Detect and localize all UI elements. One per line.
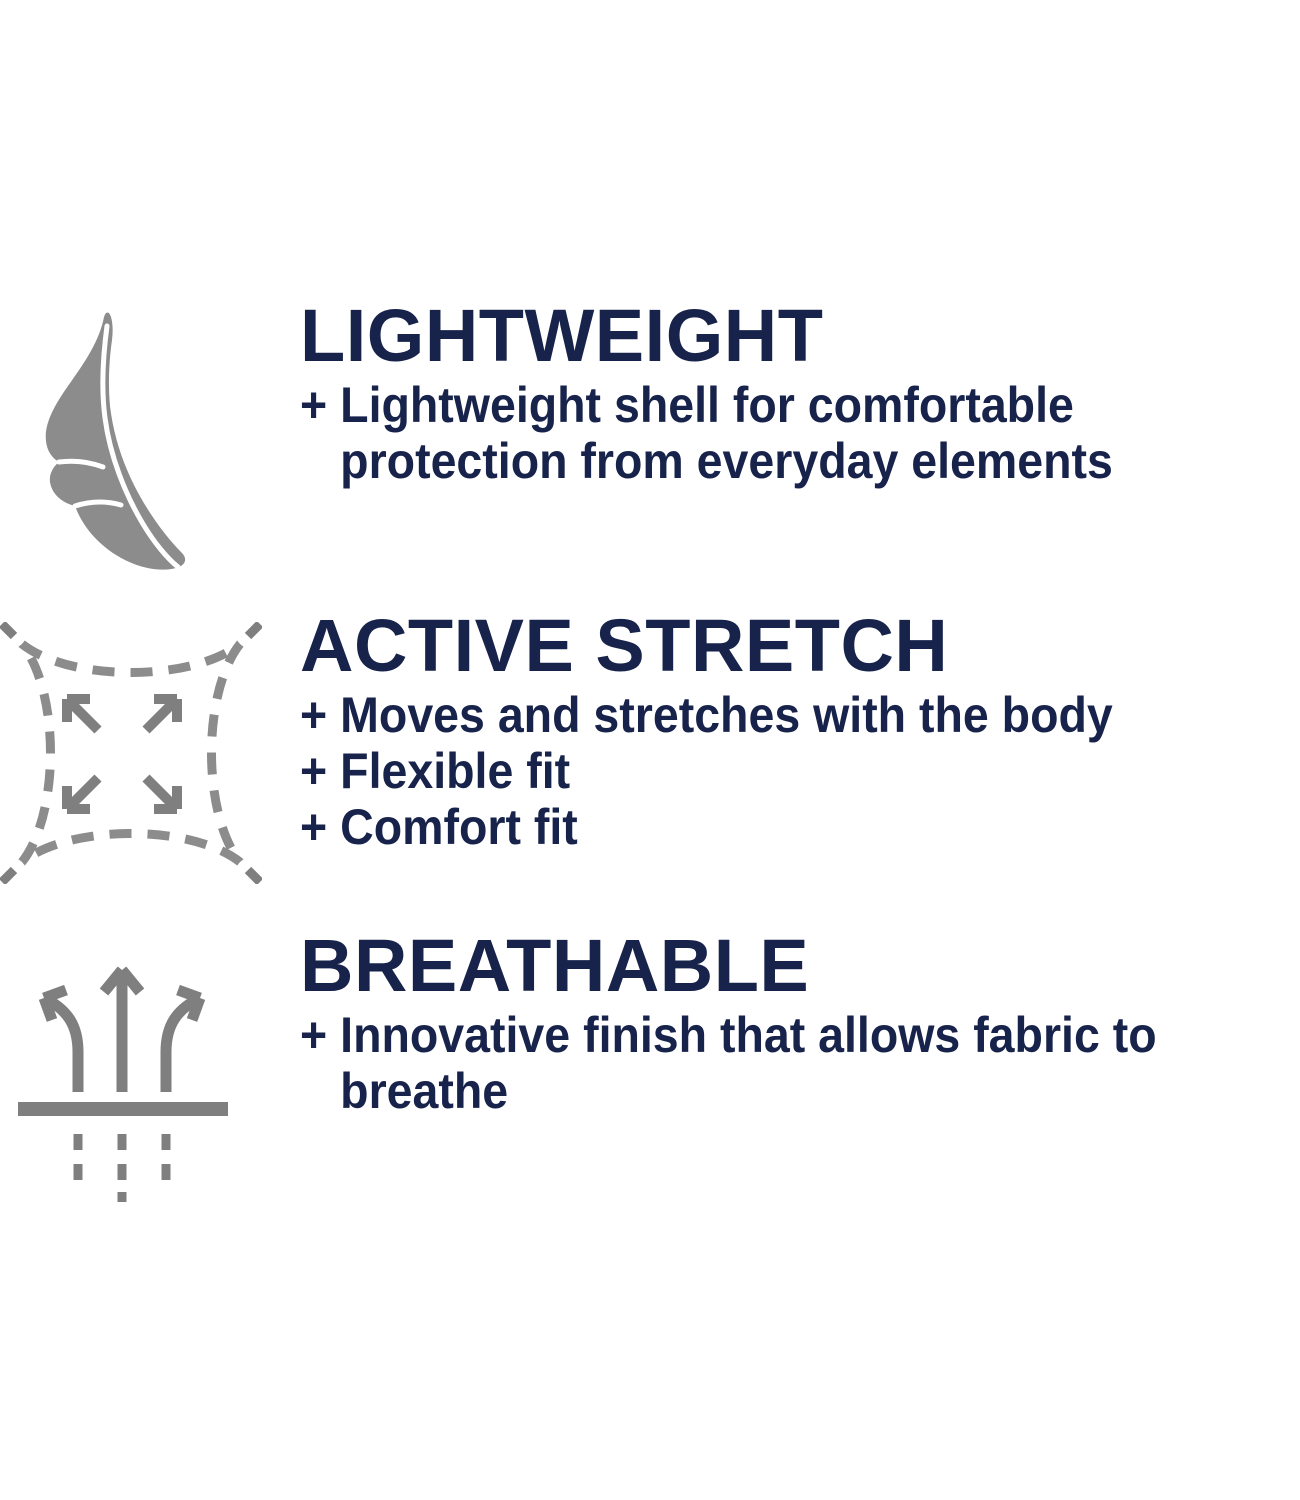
feature-text-cell: LIGHTWEIGHT + Lightweight shell for comf… <box>300 300 1300 489</box>
bullet-item: + Comfort fit <box>300 799 1230 855</box>
bullet-text: Comfort fit <box>340 799 1230 855</box>
feature-title: ACTIVE STRETCH <box>300 610 1300 683</box>
bullet-item: + Lightweight shell for comfortable prot… <box>300 377 1230 489</box>
feature-title: LIGHTWEIGHT <box>300 300 1300 373</box>
feature-row: ACTIVE STRETCH + Moves and stretches wit… <box>0 610 1300 910</box>
feature-title: BREATHABLE <box>300 930 1300 1003</box>
bullet-text: Innovative finish that allows fabric to … <box>340 1007 1230 1119</box>
feature-row: BREATHABLE + Innovative finish that allo… <box>0 930 1300 1210</box>
feature-row: LIGHTWEIGHT + Lightweight shell for comf… <box>0 300 1300 600</box>
bullet-text: Flexible fit <box>340 743 1230 799</box>
feature-text-cell: ACTIVE STRETCH + Moves and stretches wit… <box>300 610 1300 855</box>
feature-icon-cell <box>0 300 300 600</box>
stretch-arrows-icon <box>0 622 262 884</box>
feature-bullets: + Moves and stretches with the body + Fl… <box>300 687 1300 855</box>
bullet-marker: + <box>300 377 327 433</box>
breathability-arrows-icon <box>8 942 248 1202</box>
bullet-marker: + <box>300 1007 327 1063</box>
feature-icon-cell <box>0 930 300 1210</box>
feather-icon <box>35 310 235 580</box>
feature-bullets: + Lightweight shell for comfortable prot… <box>300 377 1300 489</box>
bullet-text: Lightweight shell for comfortable protec… <box>340 377 1230 489</box>
bullet-marker: + <box>300 743 327 799</box>
fabric-bar <box>18 1102 228 1116</box>
feature-text-cell: BREATHABLE + Innovative finish that allo… <box>300 930 1300 1119</box>
bullet-marker: + <box>300 799 327 855</box>
bullet-item: + Moves and stretches with the body <box>300 687 1230 743</box>
bullet-marker: + <box>300 687 327 743</box>
bullet-item: + Flexible fit <box>300 743 1230 799</box>
bullet-text: Moves and stretches with the body <box>340 687 1230 743</box>
feature-icon-cell <box>0 610 300 910</box>
feature-bullets: + Innovative finish that allows fabric t… <box>300 1007 1300 1119</box>
product-feature-list: LIGHTWEIGHT + Lightweight shell for comf… <box>0 0 1300 1500</box>
bullet-item: + Innovative finish that allows fabric t… <box>300 1007 1230 1119</box>
